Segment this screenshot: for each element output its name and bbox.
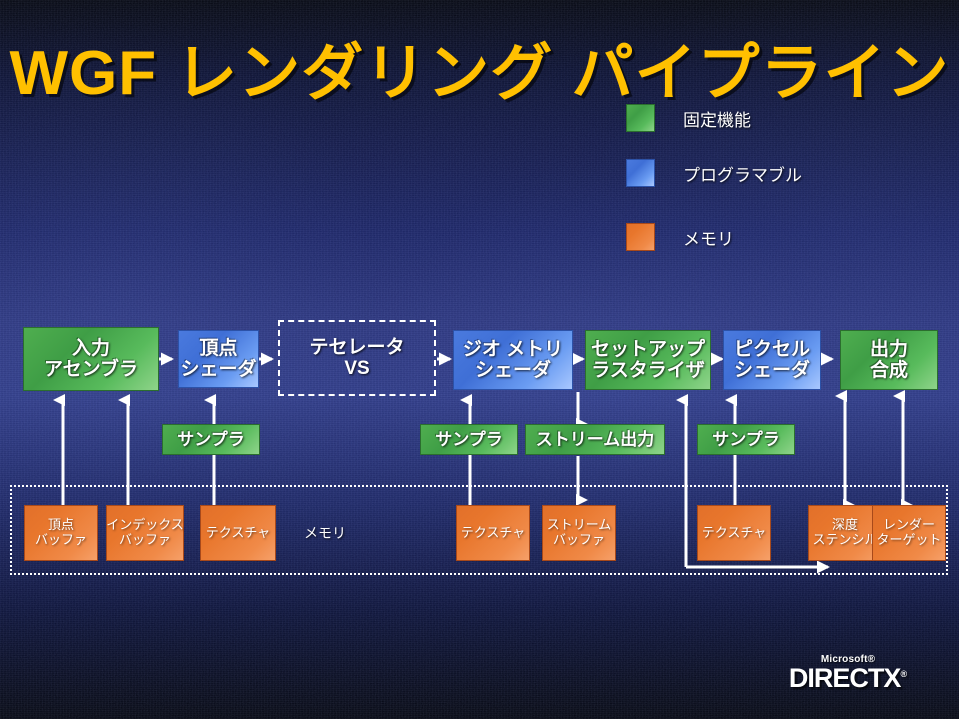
stage-vertex-shader-line2: シェーダ (180, 359, 256, 380)
stream-output-box[interactable]: ストリーム出力 (525, 424, 665, 455)
stream-output-label: ストリーム出力 (536, 430, 655, 449)
memory-index-buffer[interactable]: インデックス バッファ (106, 505, 184, 561)
sampler-pixel-shader-label: サンプラ (712, 430, 780, 449)
memory-render-target[interactable]: レンダー ターゲット (872, 505, 946, 561)
stage-pixel-shader-line1: ピクセル (734, 339, 810, 360)
directx-logo-product: DIRECTX® (768, 665, 928, 692)
directx-logo-wordmark: DIRECTX (789, 663, 901, 693)
sampler-vertex-shader[interactable]: サンプラ (162, 424, 260, 455)
stage-geometry-shader-line1: ジオ メトリ (463, 339, 563, 360)
memory-vertex-buffer[interactable]: 頂点 バッファ (24, 505, 98, 561)
sampler-geometry-shader[interactable]: サンプラ (420, 424, 518, 455)
stage-output-merger-line2: 合成 (870, 360, 908, 381)
slide-canvas: WGF レンダリング パイプライン 固定機能 プログラマブル メモリ メモリ (0, 0, 959, 719)
memory-texture-geometry[interactable]: テクスチャ (456, 505, 530, 561)
memory-depth-stencil-line1: 深度 (832, 518, 858, 533)
memory-texture-vertex[interactable]: テクスチャ (200, 505, 276, 561)
memory-render-target-line2: ターゲット (876, 533, 941, 548)
stage-vertex-shader-line1: 頂点 (199, 338, 237, 359)
memory-texture-pixel-line1: テクスチャ (702, 526, 766, 541)
output-merger-arrows (845, 396, 903, 505)
stage-geometry-shader[interactable]: ジオ メトリ シェーダ (453, 330, 573, 390)
stage-setup-rasterizer-line2: ラスタライザ (591, 360, 705, 381)
stage-setup-rasterizer-line1: セットアップ (591, 339, 705, 360)
stage-tessellator-line1: テセレータ (309, 337, 404, 358)
stage-vertex-shader[interactable]: 頂点 シェーダ (178, 330, 259, 388)
stage-pixel-shader[interactable]: ピクセル シェーダ (723, 330, 821, 390)
sampler-pixel-shader[interactable]: サンプラ (697, 424, 795, 455)
memory-vertex-buffer-line2: バッファ (35, 533, 87, 548)
memory-depth-stencil[interactable]: 深度 ステンシル (808, 505, 882, 561)
directx-logo: Microsoft® DIRECTX® (768, 655, 928, 692)
stage-input-assembler[interactable]: 入力 アセンブラ (23, 327, 159, 391)
stage-tessellator[interactable]: テセレータ VS (278, 320, 436, 396)
stage-tessellator-line2: VS (344, 358, 369, 379)
memory-texture-vertex-line1: テクスチャ (206, 526, 270, 541)
memory-depth-stencil-line2: ステンシル (812, 533, 877, 548)
memory-region-caption: メモリ (304, 523, 346, 543)
memory-index-buffer-line2: バッファ (119, 533, 171, 548)
stage-pixel-shader-line2: シェーダ (734, 360, 810, 381)
stage-input-assembler-line1: 入力 (72, 338, 110, 359)
memory-stream-buffer-line1: ストリーム (547, 518, 612, 533)
stage-setup-rasterizer[interactable]: セットアップ ラスタライザ (585, 330, 711, 390)
directx-logo-registered: ® (900, 669, 907, 679)
stage-output-merger[interactable]: 出力 合成 (840, 330, 938, 390)
stage-input-assembler-line2: アセンブラ (44, 359, 138, 380)
memory-stream-buffer[interactable]: ストリーム バッファ (542, 505, 616, 561)
sampler-vertex-shader-label: サンプラ (177, 430, 245, 449)
memory-index-buffer-line1: インデックス (106, 518, 184, 533)
memory-texture-geometry-line1: テクスチャ (461, 526, 525, 541)
stage-output-merger-line1: 出力 (870, 339, 908, 360)
sampler-geometry-shader-label: サンプラ (435, 430, 503, 449)
memory-texture-pixel[interactable]: テクスチャ (697, 505, 771, 561)
stage-geometry-shader-line2: シェーダ (475, 360, 551, 381)
memory-render-target-line1: レンダー (883, 518, 935, 533)
memory-vertex-buffer-line1: 頂点 (48, 518, 74, 533)
memory-stream-buffer-line2: バッファ (553, 533, 605, 548)
